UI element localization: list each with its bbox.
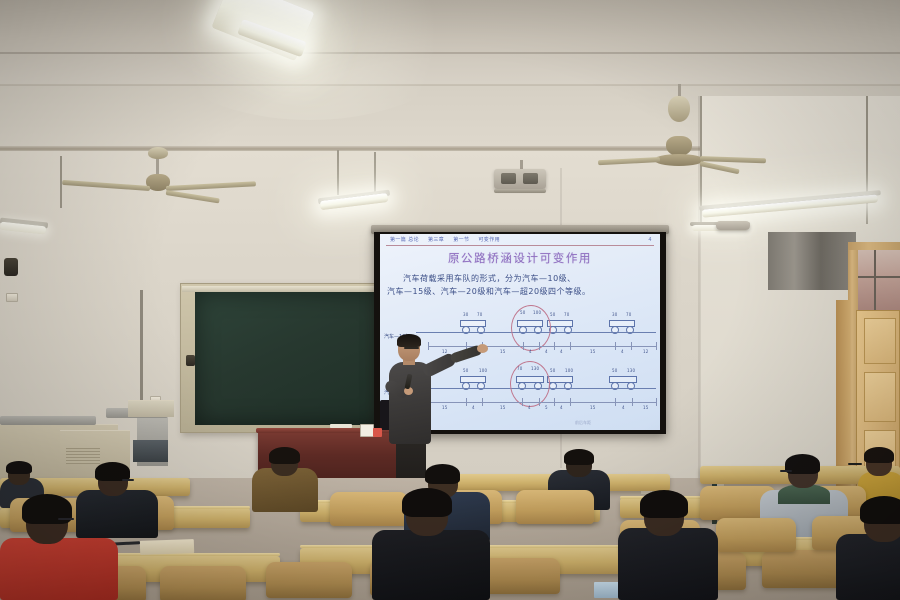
dimension-tick <box>656 342 657 350</box>
light-suspension-rod <box>337 150 339 195</box>
highlight-ellipse <box>510 361 550 407</box>
dimension-tick <box>539 398 540 406</box>
dimension-tick <box>570 398 571 406</box>
classroom-scene: 第一篇 总论 第三章 第一节 可变作用 4 原公路桥涵设计可变作用 汽车荷载采用… <box>0 0 900 600</box>
light-suspension-rod <box>866 96 868 224</box>
spacing-label: 15 <box>500 405 506 410</box>
student-hair <box>640 490 688 518</box>
dimension-tick <box>522 398 523 406</box>
dimension-tick <box>466 398 467 406</box>
paper-cup <box>360 424 374 437</box>
axle-load-label: 50 <box>463 368 469 373</box>
student-glasses <box>122 479 134 481</box>
student-glasses <box>848 463 862 465</box>
ceiling-fan-canopy <box>148 147 168 159</box>
chair-back <box>330 492 408 526</box>
red-marker <box>373 428 382 437</box>
student-hair <box>860 496 900 524</box>
blackboard-surface <box>195 292 385 425</box>
chair-back <box>716 518 796 552</box>
slide-header-topic: 可变作用 <box>478 236 500 243</box>
student-hair <box>269 447 300 464</box>
dimension-tick <box>631 342 632 350</box>
ceiling-fan-hub <box>654 154 704 166</box>
slide-body: 汽车荷载采用车队的形式，分为汽车—10级、 汽车—15级、汽车—20级和汽车—超… <box>387 272 653 298</box>
presenter-glasses <box>404 347 419 349</box>
dimension-tick <box>523 342 524 350</box>
student-body <box>836 534 900 600</box>
dimension-tick <box>554 342 555 350</box>
student-glasses <box>58 518 74 520</box>
ceiling-fan-motor <box>666 136 692 156</box>
slide-header-part: 第一篇 总论 <box>390 236 419 243</box>
highlight-ellipse <box>511 305 551 351</box>
slide-body-line-2: 汽车—15级、汽车—20级和汽车—超20级四个等级。 <box>387 287 591 296</box>
student-hair <box>402 488 452 517</box>
axle-load-label: 130 <box>627 368 635 373</box>
slide-header: 第一篇 总论 第三章 第一节 可变作用 4 <box>380 235 660 244</box>
slide-body-line-1: 汽车荷载采用车队的形式，分为汽车—10级、 <box>403 274 576 283</box>
axle-load-label: 50 <box>550 368 556 373</box>
presenter-pointing-hand <box>477 344 488 353</box>
student-hair <box>564 449 594 465</box>
spacing-label: 15 <box>643 405 649 410</box>
wall-speaker <box>716 221 750 230</box>
dimension-line <box>428 346 656 347</box>
axle-load-label: 70 <box>626 312 632 317</box>
door-panel <box>864 318 896 364</box>
door-header <box>848 242 900 250</box>
spacing-label: 15 <box>590 349 596 354</box>
slide-title: 原公路桥涵设计可变作用 <box>380 250 660 266</box>
student-hair <box>425 464 460 484</box>
student-body <box>76 490 158 538</box>
notebook <box>140 539 194 555</box>
dimension-tick <box>428 342 429 350</box>
ceiling-fan-canopy <box>668 96 690 122</box>
axle-load-label: 30 <box>463 312 469 317</box>
window-curtain <box>768 232 856 290</box>
chair-back <box>516 490 594 524</box>
desk-equipment <box>133 440 168 462</box>
dimension-tick <box>482 398 483 406</box>
dimension-tick <box>615 398 616 406</box>
spacing-label: 5 <box>545 405 548 410</box>
spacing-label: 15 <box>590 405 596 410</box>
axle-load-label: 100 <box>479 368 487 373</box>
spacing-label: 4 <box>621 349 624 354</box>
student-body <box>618 528 718 600</box>
spacing-label: 4 <box>528 405 531 410</box>
axle-load-label: 70 <box>477 312 483 317</box>
wall-mounted-speaker <box>4 258 18 276</box>
spacing-label: 15 <box>500 349 506 354</box>
ceiling <box>0 0 900 86</box>
cabinet-top <box>0 416 96 425</box>
slide-header-section: 第一节 <box>453 236 469 243</box>
dimension-tick <box>656 398 657 406</box>
slide-header-rule <box>386 245 654 246</box>
spacing-label: 4 <box>622 405 625 410</box>
projector-lens <box>523 173 538 184</box>
chair-back <box>160 566 246 600</box>
student-hair <box>6 461 32 474</box>
dimension-line <box>428 402 656 403</box>
dimension-tick <box>539 342 540 350</box>
axle-load-label: 50 <box>550 312 556 317</box>
spacing-label: 4 <box>472 405 475 410</box>
slide-header-chapter: 第三章 <box>428 236 444 243</box>
student-body <box>372 530 490 600</box>
student-hair <box>864 447 894 463</box>
spacing-label: 12 <box>643 349 649 354</box>
shelf <box>128 400 174 417</box>
student-body <box>0 538 118 600</box>
slide-footer-note: 前后车距 <box>575 420 591 426</box>
dimension-tick <box>632 398 633 406</box>
exterior-window-view <box>856 250 900 312</box>
ceiling-seam <box>0 52 900 54</box>
power-socket <box>6 293 18 302</box>
dimension-tick <box>554 398 555 406</box>
presenter-hair <box>397 334 421 347</box>
cabinet-vent <box>66 448 100 464</box>
axle-load-label: 50 <box>612 368 618 373</box>
light-suspension-rod <box>374 152 376 196</box>
chair-back <box>266 562 352 598</box>
dimension-tick <box>615 342 616 350</box>
window-mullion <box>856 276 900 278</box>
student-glasses <box>780 470 792 472</box>
load-diagram-row-1: 汽车—10级 30 70 50 100 50 70 30 70 <box>380 306 660 360</box>
spacing-label: 4 <box>545 349 548 354</box>
window-mullion <box>874 250 876 312</box>
axle-load-label: 70 <box>564 312 570 317</box>
blackboard-side-speaker <box>186 355 195 366</box>
projector-base <box>494 189 546 193</box>
spacing-label: 4 <box>560 349 563 354</box>
axle-load-label: 100 <box>565 368 573 373</box>
slide-page-number: 4 <box>648 237 652 243</box>
spacing-label: 15 <box>442 405 448 410</box>
door-panel <box>864 372 896 422</box>
dimension-tick <box>570 342 571 350</box>
projector-lens <box>501 173 516 184</box>
conduit-pipe <box>140 290 143 410</box>
axle-load-label: 30 <box>612 312 618 317</box>
spacing-label: 4 <box>529 349 532 354</box>
spacing-label: 4 <box>560 405 563 410</box>
